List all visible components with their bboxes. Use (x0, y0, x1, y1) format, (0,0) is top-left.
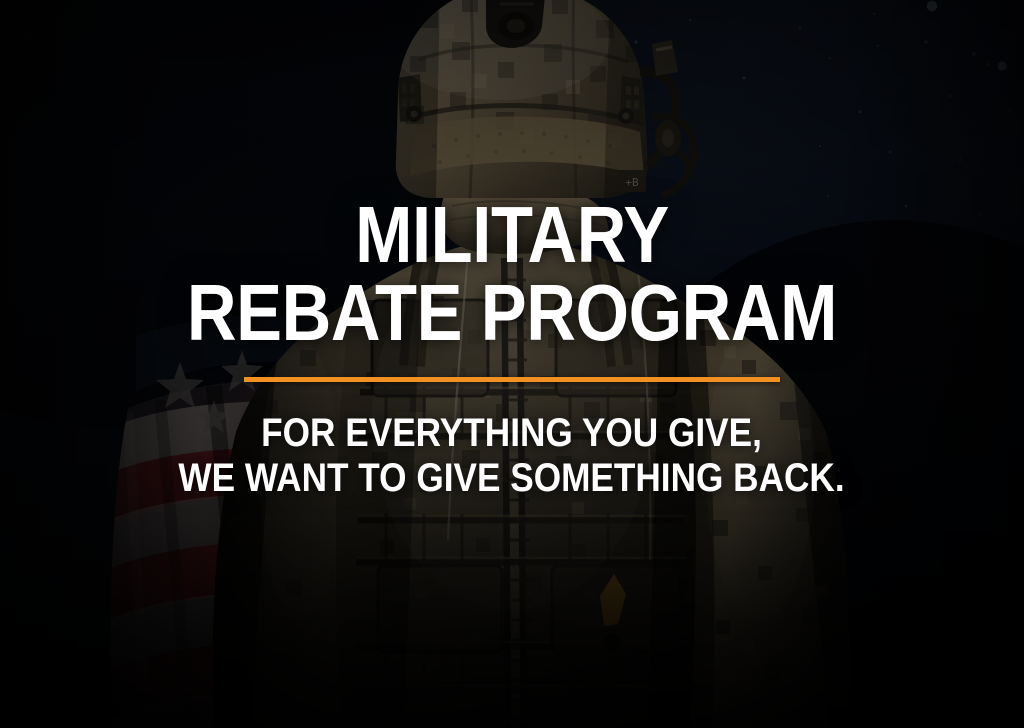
headline-line-2: REBATE PROGRAM (187, 274, 837, 352)
banner-content: MILITARY REBATE PROGRAM FOR EVERYTHING Y… (0, 0, 1024, 728)
headline-line-1: MILITARY (187, 196, 837, 274)
subtitle-line-2: WE WANT TO GIVE SOMETHING BACK. (179, 456, 845, 501)
subtitle: FOR EVERYTHING YOU GIVE, WE WANT TO GIVE… (179, 411, 845, 501)
military-rebate-banner: +B MILITARY REBATE PROGRAM FOR EVERYTHIN… (0, 0, 1024, 728)
accent-divider (244, 377, 780, 382)
page-title: MILITARY REBATE PROGRAM (187, 196, 837, 351)
subtitle-line-1: FOR EVERYTHING YOU GIVE, (179, 411, 845, 456)
